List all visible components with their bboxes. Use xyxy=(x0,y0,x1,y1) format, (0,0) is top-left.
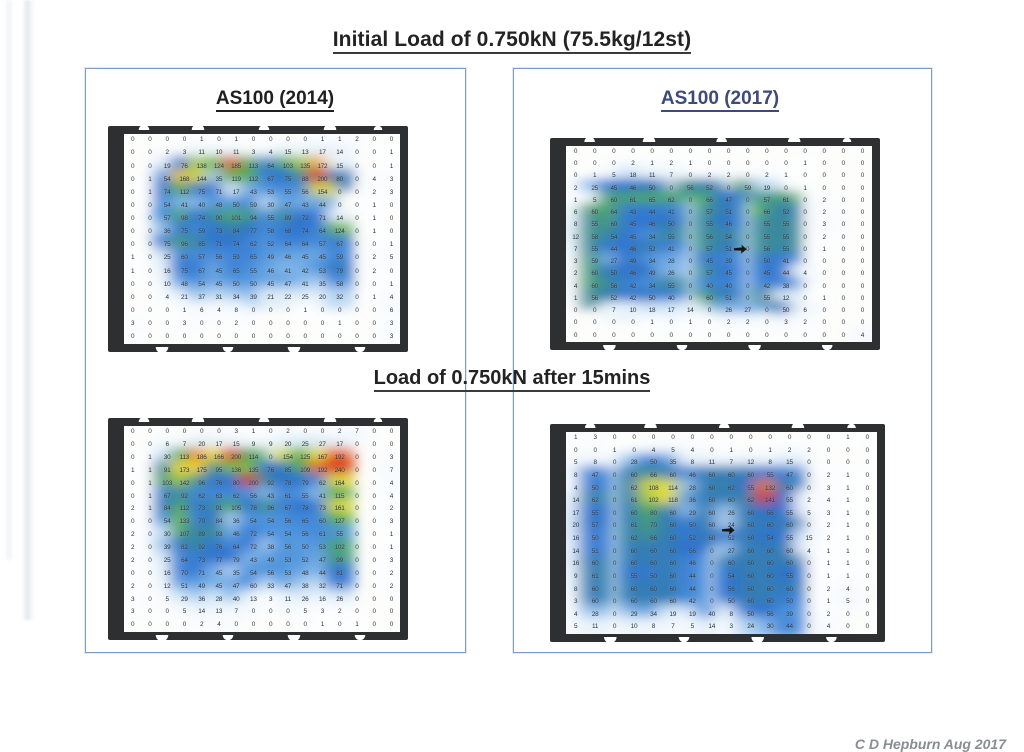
heatmap-cell: 2 xyxy=(383,568,400,581)
heatmap-cell: 29 xyxy=(683,508,702,521)
heatmap-cell: 0 xyxy=(662,183,681,195)
heatmap-cell: 135 xyxy=(297,160,314,173)
heatmap-cell: 0 xyxy=(262,331,279,344)
heatmap-cell: 96 xyxy=(262,503,279,516)
heatmap-cell: 0 xyxy=(834,183,853,195)
heatmap-cell: 77 xyxy=(210,555,227,568)
heatmap-cell: 0 xyxy=(796,195,815,207)
heatmap-cell: 61 xyxy=(624,520,643,533)
heatmap-cell: 125 xyxy=(297,452,314,465)
heatmap-cell: 0 xyxy=(366,426,383,439)
heatmap-cell: 5 xyxy=(604,171,623,183)
heatmap-cell: 19 xyxy=(663,609,682,622)
heatmap-cell: 0 xyxy=(858,533,877,546)
heatmap-cell: 0 xyxy=(124,568,141,581)
heatmap-cell: 3 xyxy=(566,596,585,609)
heatmap-cell: 0 xyxy=(141,200,158,213)
heatmap-cell: 8 xyxy=(566,470,585,483)
heatmap-cell: 0 xyxy=(605,432,624,445)
heatmap-cell: 40 xyxy=(662,293,681,305)
heatmap-cell: 2 xyxy=(799,445,818,458)
heatmap-cell: 0 xyxy=(348,555,365,568)
heatmap-cell: 8 xyxy=(228,305,245,318)
heatmap-cell: 192 xyxy=(314,465,331,478)
heatmap-cell: 35 xyxy=(210,173,227,186)
heatmap-cell: 60 xyxy=(644,596,663,609)
heatmap-cell: 1 xyxy=(643,158,662,170)
heatmap-cell: 56 xyxy=(683,546,702,559)
heatmap-cell: 25 xyxy=(297,439,314,452)
heatmap-cell: 25 xyxy=(297,292,314,305)
heatmap-cell: 1 xyxy=(838,432,857,445)
heatmap-cell: 55 xyxy=(262,213,279,226)
heatmap-cell: 0 xyxy=(605,470,624,483)
heatmap-cell: 161 xyxy=(331,503,348,516)
heatmap-cell: 0 xyxy=(624,432,643,445)
heatmap-cell: 96 xyxy=(176,239,193,252)
heatmap-cell: 60 xyxy=(702,483,721,496)
heatmap-cell: 11 xyxy=(585,621,604,634)
heatmap-cell: 0 xyxy=(245,606,262,619)
heatmap-cell: 60 xyxy=(760,571,779,584)
heatmap-cell: 0 xyxy=(124,452,141,465)
heatmap-cell: 0 xyxy=(331,187,348,200)
heatmap-cell: 1 xyxy=(838,533,857,546)
heatmap-cell: 45 xyxy=(757,269,776,281)
heatmap-cell: 26 xyxy=(331,593,348,606)
heatmap-cell: 60 xyxy=(760,520,779,533)
heatmap-cell: 0 xyxy=(141,226,158,239)
heatmap-cell: 98 xyxy=(176,213,193,226)
heatmap-cell: 0 xyxy=(799,558,818,571)
heatmap-cell: 66 xyxy=(700,195,719,207)
heatmap-cell: 0 xyxy=(141,252,158,265)
heatmap-cell: 55 xyxy=(331,529,348,542)
heatmap-cell: 0 xyxy=(566,318,585,330)
heatmap-cell: 57 xyxy=(585,520,604,533)
heatmap-cell: 1 xyxy=(314,134,331,147)
scan-artifact-outer xyxy=(5,0,13,560)
heatmap-cell: 49 xyxy=(623,256,642,268)
heatmap-cell: 62 xyxy=(314,478,331,491)
heatmap-cell: 46 xyxy=(683,558,702,571)
heatmap-cell: 10 xyxy=(159,278,176,291)
heatmap-cell: 3 xyxy=(585,432,604,445)
heatmap-cell: 0 xyxy=(566,158,585,170)
heatmap-cell: 27 xyxy=(314,439,331,452)
heatmap-cell: 60 xyxy=(780,546,799,559)
heatmap-cell: 0 xyxy=(141,278,158,291)
heatmap-cell: 74 xyxy=(159,187,176,200)
heatmap-cell: 55 xyxy=(585,508,604,521)
heatmap-cell: 0 xyxy=(279,606,296,619)
heatmap-cell: 84 xyxy=(210,516,227,529)
heatmap-cell: 112 xyxy=(176,503,193,516)
heatmap-cell: 0 xyxy=(834,318,853,330)
heatmap-cell: 7 xyxy=(722,457,741,470)
heatmap-cell: 17 xyxy=(210,439,227,452)
heatmap-cell: 2 xyxy=(566,269,585,281)
heatmap-cell: 0 xyxy=(605,520,624,533)
heatmap-cell: 60 xyxy=(702,533,721,546)
heatmap-cell: 2 xyxy=(799,495,818,508)
heatmap-cell: 60 xyxy=(780,584,799,597)
heatmap-cell: 0 xyxy=(366,465,383,478)
heatmap-cell: 30 xyxy=(159,452,176,465)
heatmap-cell: 28 xyxy=(662,256,681,268)
heatmap-cell: 0 xyxy=(566,146,585,158)
heatmap-cell: 90 xyxy=(210,213,227,226)
heatmap-cell: 142 xyxy=(176,478,193,491)
heatmap-cell: 0 xyxy=(780,432,799,445)
heatmap-cell: 61 xyxy=(279,490,296,503)
heatmap-cell: 0 xyxy=(383,265,400,278)
heatmap-cell: 0 xyxy=(124,292,141,305)
heatmap-cell: 0 xyxy=(141,292,158,305)
heatmap-cell: 2 xyxy=(228,318,245,331)
heatmap-cell: 1 xyxy=(838,495,857,508)
heatmap-cell: 60 xyxy=(644,546,663,559)
heatmap-cell: 0 xyxy=(124,134,141,147)
heatmap-cell: 0 xyxy=(366,478,383,491)
heatmap-cell: 0 xyxy=(331,331,348,344)
heatmap-cell: 2 xyxy=(757,171,776,183)
heatmap-cell: 16 xyxy=(566,558,585,571)
heatmap-cell: 0 xyxy=(262,134,279,147)
heatmap-cell: 20 xyxy=(193,439,210,452)
heatmap-cell: 55 xyxy=(700,220,719,232)
heatmap-cell: 1 xyxy=(176,305,193,318)
heatmap-cell: 0 xyxy=(348,529,365,542)
heatmap-cell: 75 xyxy=(176,226,193,239)
heatmap-cell: 92 xyxy=(193,542,210,555)
heatmap-cell: 119 xyxy=(228,173,245,186)
heatmap-cell: 50 xyxy=(757,256,776,268)
heatmap-cell: 13 xyxy=(210,606,227,619)
heatmap-cell: 0 xyxy=(124,439,141,452)
heatmap-cell: 46 xyxy=(643,220,662,232)
heatmap-cell: 3 xyxy=(383,331,400,344)
heatmap-cell: 66 xyxy=(644,533,663,546)
heatmap-cell: 0 xyxy=(331,619,348,632)
heatmap-cell: 1 xyxy=(760,445,779,458)
heatmap-cell: 0 xyxy=(605,508,624,521)
heatmap-cell: 88 xyxy=(297,173,314,186)
heatmap-cell: 64 xyxy=(262,160,279,173)
heatmap-cell: 0 xyxy=(159,606,176,619)
heatmap-cell: 0 xyxy=(738,330,757,342)
heatmap-cell: 55 xyxy=(780,495,799,508)
heatmap-cell: 45 xyxy=(623,220,642,232)
heatmap-cell: 0 xyxy=(853,281,872,293)
heatmap-cell: 60 xyxy=(741,508,760,521)
heatmap-cell: 4 xyxy=(853,330,872,342)
heatmap-cell: 13 xyxy=(297,147,314,160)
heatmap-cell: 78 xyxy=(297,503,314,516)
heatmap-cell: 0 xyxy=(838,457,857,470)
heatmap-cell: 72 xyxy=(297,213,314,226)
heatmap-cell: 73 xyxy=(210,226,227,239)
heatmap-cell: 62 xyxy=(624,533,643,546)
heatmap-cell: 0 xyxy=(702,432,721,445)
heatmap-cell: 2 xyxy=(719,171,738,183)
heatmap-cell: 0 xyxy=(383,426,400,439)
heatmap-cell: 0 xyxy=(799,621,818,634)
heatmap-cell: 0 xyxy=(348,318,365,331)
heatmap-cell: 63 xyxy=(210,490,227,503)
heatmap-cell: 42 xyxy=(297,265,314,278)
heatmap-cell: 36 xyxy=(193,593,210,606)
heatmap-cell: 5 xyxy=(159,593,176,606)
heatmap-cell: 91 xyxy=(159,465,176,478)
heatmap-cell: 0 xyxy=(348,581,365,594)
heatmap-cell: 0 xyxy=(348,160,365,173)
heatmap-cell: 0 xyxy=(738,158,757,170)
heatmap-cell: 67 xyxy=(331,239,348,252)
heatmap-cell: 0 xyxy=(262,606,279,619)
heatmap-cell: 50 xyxy=(643,183,662,195)
heatmap-cell: 1 xyxy=(566,293,585,305)
heatmap-cell: 60 xyxy=(741,533,760,546)
heatmap-cell: 0 xyxy=(566,305,585,317)
heatmap-cell: 1 xyxy=(366,292,383,305)
heatmap-cell: 59 xyxy=(245,200,262,213)
heatmap-cell: 54 xyxy=(719,232,738,244)
heatmap-cell: 0 xyxy=(738,269,757,281)
heatmap-cell: 56 xyxy=(210,252,227,265)
heatmap-cell: 45 xyxy=(210,581,227,594)
heatmap-cell: 56 xyxy=(297,187,314,200)
heatmap-cell: 12 xyxy=(741,457,760,470)
heatmap-cell: 50 xyxy=(585,533,604,546)
heatmap-cell: 3 xyxy=(819,508,838,521)
heatmap-cell: 5 xyxy=(585,195,604,207)
heatmap-cell: 0 xyxy=(815,256,834,268)
heatmap-cell: 0 xyxy=(366,134,383,147)
heatmap-cell: 0 xyxy=(297,134,314,147)
heatmap-cell: 0 xyxy=(566,171,585,183)
heatmap-cell: 0 xyxy=(776,183,795,195)
heatmap-cell: 21 xyxy=(176,292,193,305)
heatmap-cell: 0 xyxy=(383,200,400,213)
heatmap-cell: 0 xyxy=(738,256,757,268)
heatmap-cell: 0 xyxy=(738,281,757,293)
heatmap-cell: 11 xyxy=(702,457,721,470)
heatmap-cell: 0 xyxy=(141,305,158,318)
heatmap-cell: 1 xyxy=(141,452,158,465)
heatmap-cell: 46 xyxy=(279,252,296,265)
heatmap-cell: 167 xyxy=(314,452,331,465)
heatmap-cell: 1 xyxy=(245,426,262,439)
heatmap-cell: 4 xyxy=(210,305,227,318)
heatmap-cell: 60 xyxy=(663,596,682,609)
heatmap-cell: 101 xyxy=(228,213,245,226)
panel-heading-2017-initial: AS100 (2017) xyxy=(560,88,880,110)
heatmap-cell: 0 xyxy=(799,571,818,584)
heatmap-cell: 192 xyxy=(331,452,348,465)
heatmap-cell: 0 xyxy=(124,478,141,491)
heatmap-cell: 11 xyxy=(279,593,296,606)
heatmap-cell: 8 xyxy=(566,220,585,232)
heatmap-cell: 50 xyxy=(228,200,245,213)
heatmap-cell: 2 xyxy=(796,318,815,330)
heatmap-cell: 16 xyxy=(159,568,176,581)
heatmap-cell: 2 xyxy=(124,581,141,594)
heatmap-cell: 25 xyxy=(159,252,176,265)
heatmap-cell: 3 xyxy=(124,318,141,331)
heatmap-cell: 56 xyxy=(279,542,296,555)
heatmap-cell: 45 xyxy=(314,252,331,265)
heatmap-cell: 0 xyxy=(124,619,141,632)
heatmap-cell: 0 xyxy=(834,146,853,158)
heatmap-cell: 0 xyxy=(738,146,757,158)
heatmap-cell: 70 xyxy=(644,520,663,533)
heatmap-cell: 0 xyxy=(796,207,815,219)
heatmap-cell: 1 xyxy=(566,195,585,207)
heatmap-cell: 6 xyxy=(566,207,585,219)
heatmap-cell: 0 xyxy=(366,318,383,331)
heatmap-cell: 27 xyxy=(722,546,741,559)
heatmap-cell: 41 xyxy=(662,244,681,256)
heatmap-cell: 0 xyxy=(366,147,383,160)
heatmap-cell: 114 xyxy=(245,452,262,465)
heatmap-cell: 4 xyxy=(566,281,585,293)
heatmap-cell: 1 xyxy=(722,445,741,458)
heatmap-cell: 0 xyxy=(605,558,624,571)
heatmap-cell: 61 xyxy=(624,495,643,508)
heatmap-cell: 0 xyxy=(834,269,853,281)
heatmap-cell: 1 xyxy=(819,558,838,571)
heatmap-cell: 8 xyxy=(760,457,779,470)
heatmap-cell: 31 xyxy=(210,292,227,305)
heatmap-cell: 0 xyxy=(623,330,642,342)
heatmap-cell: 0 xyxy=(719,146,738,158)
heatmap-cell: 0 xyxy=(796,256,815,268)
heatmap-cell: 0 xyxy=(834,207,853,219)
heatmap-cell: 91 xyxy=(210,503,227,516)
heatmap-cell: 154 xyxy=(279,452,296,465)
heatmap-cell: 4 xyxy=(838,584,857,597)
heatmap-cell: 20 xyxy=(279,439,296,452)
heatmap-cell: 60 xyxy=(585,207,604,219)
heatmap-cell: 0 xyxy=(799,584,818,597)
heatmap-cell: 1 xyxy=(838,571,857,584)
heatmap-cell: 0 xyxy=(228,619,245,632)
heatmap-cell: 79 xyxy=(297,478,314,491)
heatmap-cell: 62 xyxy=(245,239,262,252)
heatmap-cell: 17 xyxy=(331,439,348,452)
heatmap-cell: 56 xyxy=(681,183,700,195)
heatmap-cell: 0 xyxy=(383,619,400,632)
heatmap-cell: 0 xyxy=(348,265,365,278)
heatmap-cell: 0 xyxy=(193,331,210,344)
heatmap-cell: 0 xyxy=(605,533,624,546)
heatmap-cell: 65 xyxy=(228,265,245,278)
heatmap-cell: 60 xyxy=(644,558,663,571)
heatmap-cell: 4 xyxy=(819,495,838,508)
heatmap-cell: 73 xyxy=(314,503,331,516)
heatmap-cell: 60 xyxy=(624,558,643,571)
heatmap-cell: 0 xyxy=(643,330,662,342)
heatmap-cell: 0 xyxy=(834,305,853,317)
heatmap-cell: 138 xyxy=(193,160,210,173)
heatmap-cell: 0 xyxy=(279,331,296,344)
heatmap-cell: 45 xyxy=(719,269,738,281)
heatmap-cell: 0 xyxy=(834,232,853,244)
heatmap-cell: 47 xyxy=(314,555,331,568)
heatmap-cell: 89 xyxy=(193,529,210,542)
heatmap-cell: 0 xyxy=(757,318,776,330)
heatmap-cell: 42 xyxy=(623,293,642,305)
heatmap-cell: 84 xyxy=(159,503,176,516)
heatmap-cell: 14 xyxy=(566,495,585,508)
heatmap-cell: 0 xyxy=(366,160,383,173)
heatmap-cell: 44 xyxy=(314,200,331,213)
heatmap-cell: 60 xyxy=(585,281,604,293)
heatmap-cell: 3 xyxy=(124,593,141,606)
heatmap-cell: 50 xyxy=(585,483,604,496)
heatmap-cell: 57 xyxy=(700,207,719,219)
heatmap-cell: 54 xyxy=(245,516,262,529)
heatmap-cell: 0 xyxy=(702,584,721,597)
heatmap-cell: 0 xyxy=(297,619,314,632)
heatmap-cell: 34 xyxy=(644,609,663,622)
heatmap-cell: 60 xyxy=(624,546,643,559)
heatmap-cell: 27 xyxy=(604,256,623,268)
heatmap-cell: 1 xyxy=(819,571,838,584)
heatmap-cell: 52 xyxy=(700,183,719,195)
heatmap-cell: 0 xyxy=(124,516,141,529)
heatmap-cell: 0 xyxy=(738,293,757,305)
cursor-arrow-icon xyxy=(734,244,747,255)
heatmap-cell: 3 xyxy=(815,220,834,232)
heatmap-cell: 0 xyxy=(348,439,365,452)
heatmap-cell: 0 xyxy=(776,158,795,170)
heatmap-cell: 46 xyxy=(228,529,245,542)
heatmap-cell: 172 xyxy=(314,160,331,173)
heatmap-cell: 0 xyxy=(681,207,700,219)
heatmap-cell: 0 xyxy=(604,158,623,170)
heatmap-value-grid: 0000101000011200002311101134151317140010… xyxy=(124,134,400,344)
heatmap-cell: 57 xyxy=(700,244,719,256)
heatmap-cell: 0 xyxy=(834,158,853,170)
heatmap-cell: 0 xyxy=(700,318,719,330)
heatmap-cell: 6 xyxy=(193,305,210,318)
heatmap-cell: 2 xyxy=(366,265,383,278)
heatmap-cell: 0 xyxy=(566,330,585,342)
heatmap-cell: 7 xyxy=(566,244,585,256)
heatmap-cell: 48 xyxy=(176,278,193,291)
heatmap-cell: 0 xyxy=(245,305,262,318)
heatmap-cell: 0 xyxy=(858,558,877,571)
heatmap-cell: 59 xyxy=(738,183,757,195)
heatmap-cell: 124 xyxy=(331,226,348,239)
heatmap-cell: 0 xyxy=(623,146,642,158)
heatmap-cell: 78 xyxy=(279,478,296,491)
heatmap-cell: 0 xyxy=(366,239,383,252)
heatmap-cell: 72 xyxy=(245,542,262,555)
heatmap-cell: 54 xyxy=(722,571,741,584)
heatmap-cell: 1 xyxy=(124,265,141,278)
heatmap-cell: 0 xyxy=(348,331,365,344)
heatmap-cell: 41 xyxy=(176,200,193,213)
heatmap-cell: 2 xyxy=(124,503,141,516)
page-title-text: Initial Load of 0.750kN (75.5kg/12st) xyxy=(333,28,692,54)
heatmap-cell: 55 xyxy=(780,571,799,584)
heatmap-cell: 0 xyxy=(738,171,757,183)
heatmap-cell: 15 xyxy=(228,439,245,452)
heatmap-cell: 60 xyxy=(780,483,799,496)
